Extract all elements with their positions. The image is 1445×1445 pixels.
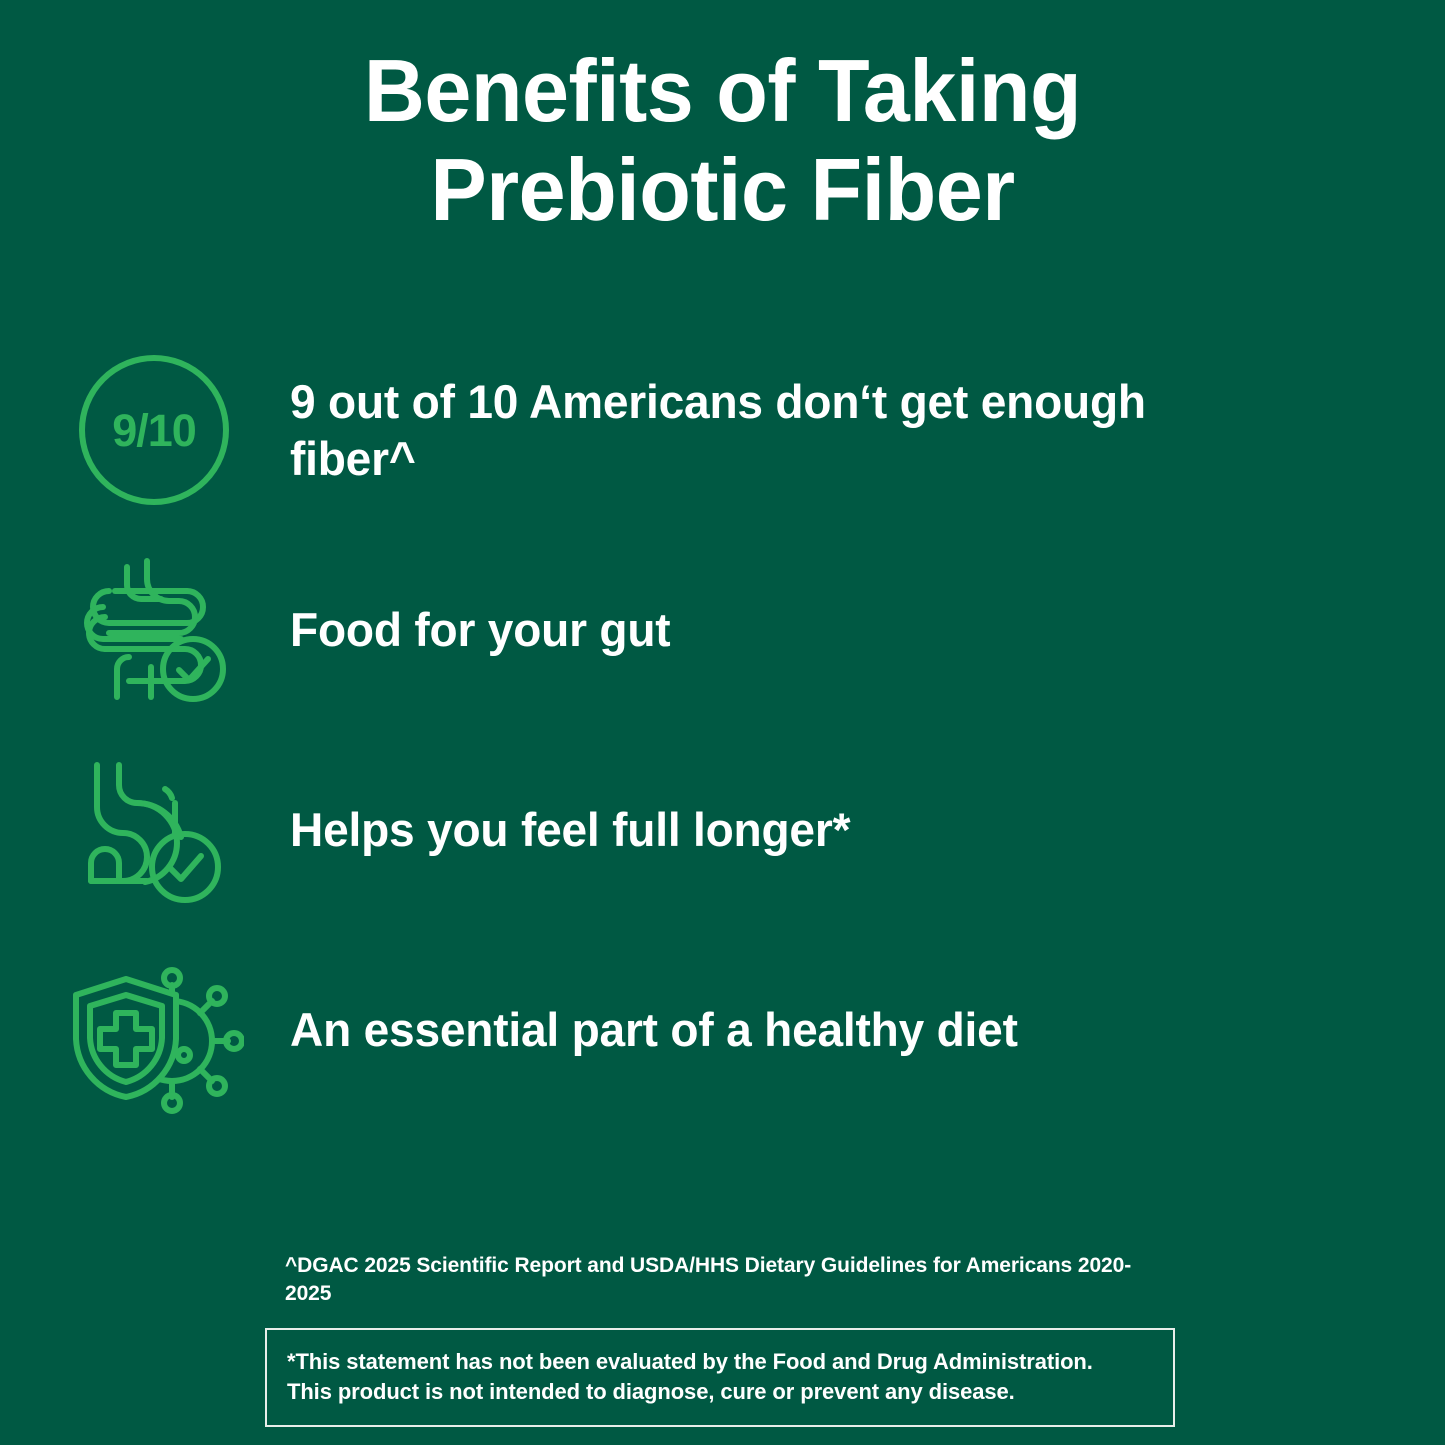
benefit-row: 9/10 9 out of 10 Americans don‘t get eno… <box>0 330 1445 530</box>
benefit-text-line-1: Food for your gut <box>290 603 670 656</box>
intestine-check-icon <box>69 545 239 715</box>
benefits-list: 9/10 9 out of 10 Americans don‘t get eno… <box>0 330 1445 1130</box>
fda-disclaimer-box: *This statement has not been evaluated b… <box>265 1328 1175 1427</box>
page-title-line-2: Prebiotic Fiber <box>29 141 1416 240</box>
stomach-check-icon <box>69 745 239 915</box>
benefit-text: Helps you feel full longer* <box>290 801 850 858</box>
benefit-text-line-1: An essential part of a healthy diet <box>290 1003 1018 1056</box>
benefit-row: Food for your gut <box>0 530 1445 730</box>
fda-disclaimer-line-2: This product is not intended to diagnose… <box>287 1377 1153 1407</box>
benefit-text-line-1: Helps you feel full longer* <box>290 803 850 856</box>
benefit-text: Food for your gut <box>290 601 670 658</box>
benefit-row: An essential part of a healthy diet <box>0 930 1445 1130</box>
benefit-text: An essential part of a healthy diet <box>290 1001 1018 1058</box>
benefit-row: Helps you feel full longer* <box>0 730 1445 930</box>
benefit-icon-cell: 9/10 <box>0 340 290 520</box>
fda-disclaimer-line-1: *This statement has not been evaluated b… <box>287 1347 1153 1377</box>
benefit-text: 9 out of 10 Americans don‘t get enough f… <box>290 373 1201 488</box>
source-footnote: ^DGAC 2025 Scientific Report and USDA/HH… <box>285 1252 1175 1307</box>
page-title-line-1: Benefits of Taking <box>29 42 1416 141</box>
benefit-text-line-1: 9 out of 10 Americans don‘t get <box>290 375 968 428</box>
source-footnote-line-1: ^DGAC 2025 Scientific Report and USDA/HH… <box>285 1254 1072 1277</box>
nine-out-of-ten-label: 9/10 <box>112 405 196 456</box>
nine-out-of-ten-circle-icon: 9/10 <box>69 345 239 515</box>
page-title: Benefits of Taking Prebiotic Fiber <box>0 42 1445 239</box>
infographic-page: Benefits of Taking Prebiotic Fiber 9/10 … <box>0 0 1445 1445</box>
benefit-icon-cell <box>0 940 290 1120</box>
fda-disclaimer-text: *This statement has not been evaluated b… <box>287 1347 1153 1408</box>
shield-virus-icon <box>64 945 244 1115</box>
benefit-icon-cell <box>0 540 290 720</box>
benefit-icon-cell <box>0 740 290 920</box>
